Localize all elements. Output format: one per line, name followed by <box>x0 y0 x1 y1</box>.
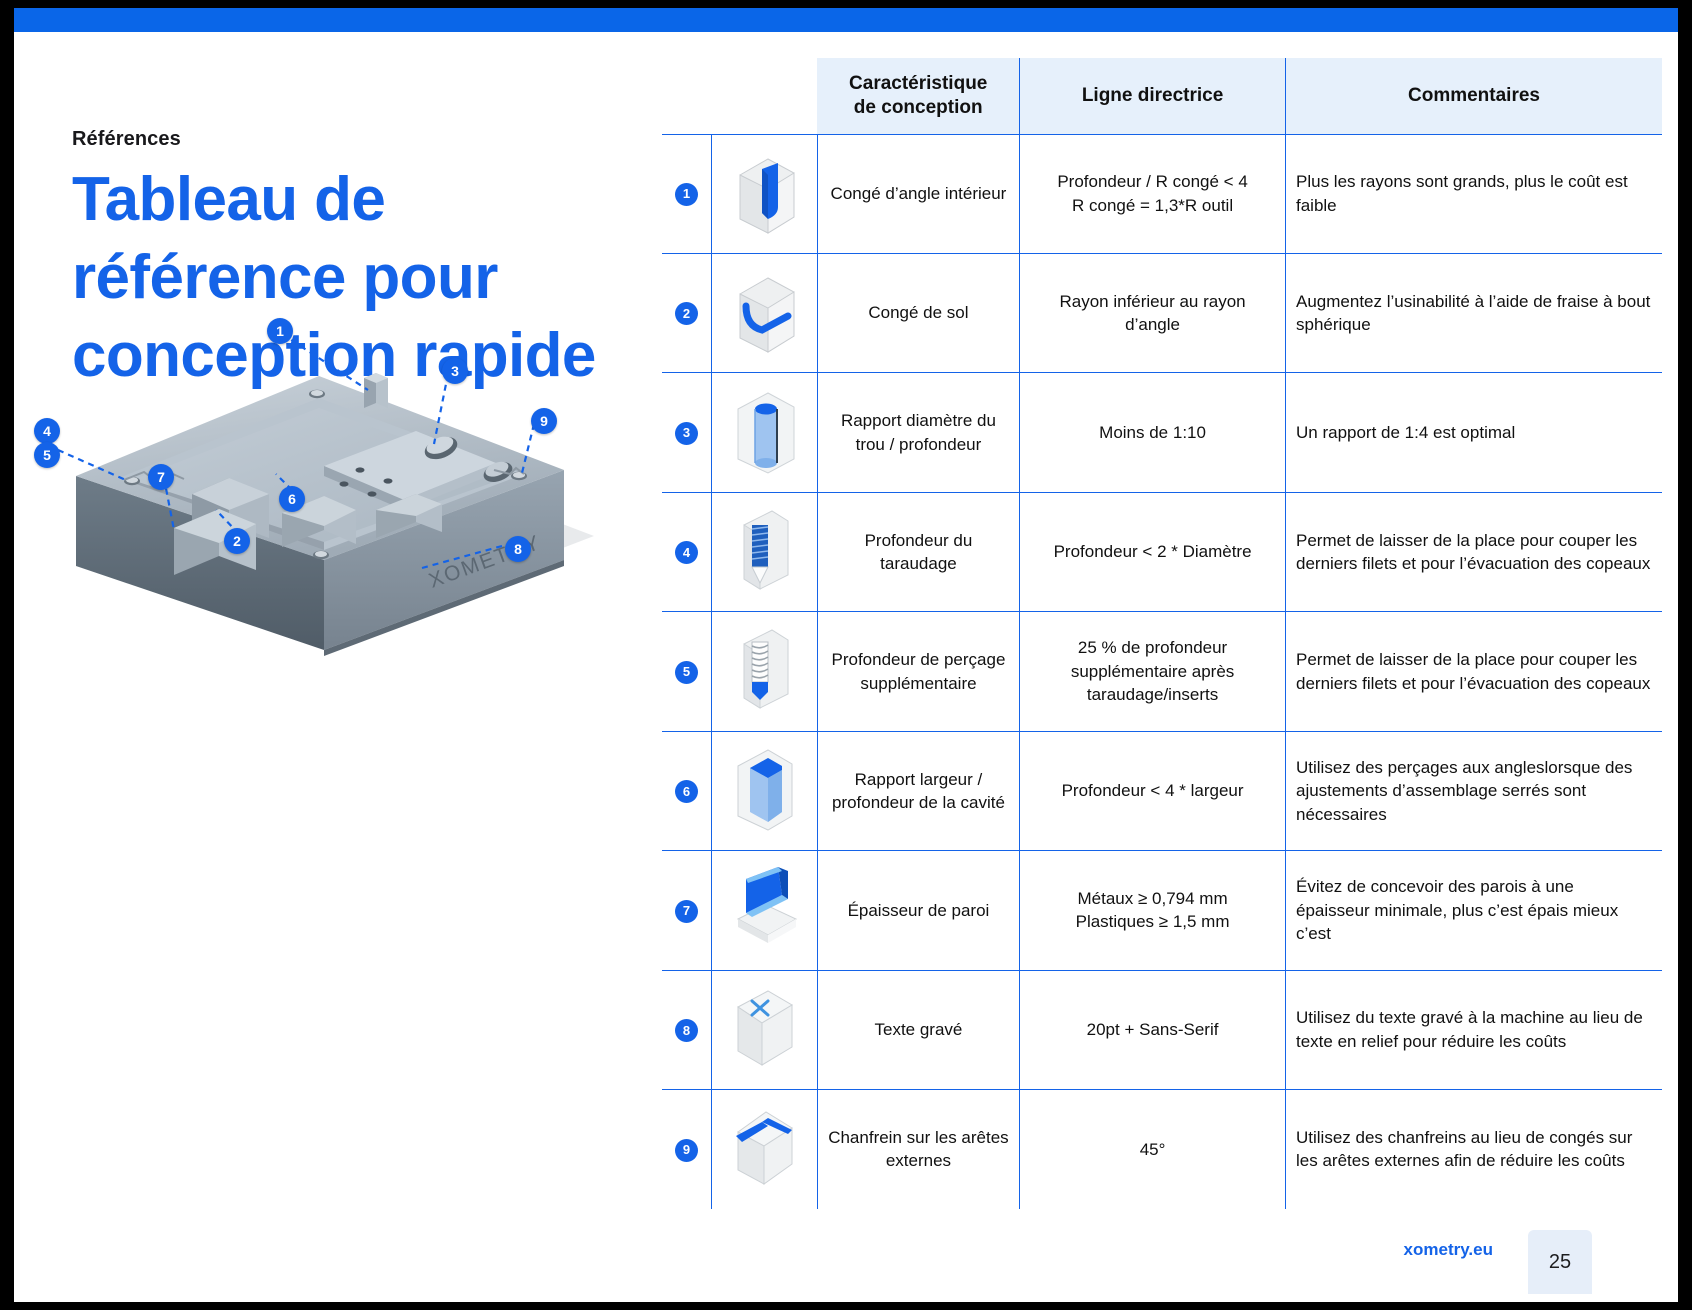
row-icon-cell <box>711 1090 817 1209</box>
extra-drill-depth-icon <box>722 622 806 714</box>
reference-table-wrapper: Caractéristique de conception Ligne dire… <box>662 58 1662 1209</box>
guideline-line1: Métaux ≥ 0,794 mm <box>1078 889 1228 908</box>
wall-thickness-icon <box>722 861 806 953</box>
header-guideline: Ligne directrice <box>1020 58 1286 134</box>
page-number-badge: 25 <box>1528 1230 1592 1294</box>
row-feature: Texte gravé <box>817 970 1019 1089</box>
engraved-text-icon <box>722 981 806 1073</box>
row-guideline: Métaux ≥ 0,794 mm Plastiques ≥ 1,5 mm <box>1020 851 1286 970</box>
row-comments: Évitez de concevoir des parois à une épa… <box>1286 851 1663 970</box>
row-badge: 7 <box>675 900 698 923</box>
row-guideline: Moins de 1:10 <box>1020 373 1286 492</box>
callout-6[interactable]: 6 <box>279 486 305 512</box>
row-guideline: Profondeur < 2 * Diamètre <box>1020 492 1286 611</box>
header-blank-icon <box>711 58 817 134</box>
row-comments: Utilisez des perçages aux angleslorsque … <box>1286 731 1663 850</box>
row-guideline: 25 % de profondeur supplémentaire après … <box>1020 612 1286 731</box>
callout-9[interactable]: 9 <box>531 408 557 434</box>
row-guideline: Profondeur / R congé < 4 R congé = 1,3*R… <box>1020 134 1286 253</box>
cavity-width-depth-icon <box>722 742 806 834</box>
header-feature-line2: de conception <box>854 97 983 118</box>
row-number-cell: 8 <box>662 970 711 1089</box>
table-row: 5 <box>662 612 1662 731</box>
row-feature: Profondeur de perçage supplémentaire <box>817 612 1019 731</box>
row-badge: 3 <box>675 422 698 445</box>
callout-3[interactable]: 3 <box>442 358 468 384</box>
table-row: 8 <box>662 970 1662 1089</box>
row-number-cell: 3 <box>662 373 711 492</box>
table-row: 2 Congé de sol Rayon in <box>662 253 1662 372</box>
row-number-cell: 1 <box>662 134 711 253</box>
row-feature: Rapport diamètre du trou / profondeur <box>817 373 1019 492</box>
cad-illustration: XOMETRY 1 2 3 4 5 6 7 8 9 <box>24 298 614 658</box>
header-blank-num <box>662 58 711 134</box>
row-number-cell: 5 <box>662 612 711 731</box>
row-icon-cell <box>711 731 817 850</box>
thread-depth-icon <box>722 503 806 595</box>
slide-page: Références Tableau de référence pour con… <box>14 8 1678 1302</box>
row-feature: Congé d’angle intérieur <box>817 134 1019 253</box>
cad-part-svg: XOMETRY <box>24 298 614 658</box>
row-number-cell: 7 <box>662 851 711 970</box>
callout-1[interactable]: 1 <box>267 318 293 344</box>
row-comments: Un rapport de 1:4 est optimal <box>1286 373 1663 492</box>
row-comments: Augmentez l’usinabilité à l’aide de frai… <box>1286 253 1663 372</box>
callout-2[interactable]: 2 <box>224 528 250 554</box>
bottom-spacer <box>14 1294 1678 1302</box>
row-number-cell: 2 <box>662 253 711 372</box>
callout-4[interactable]: 4 <box>34 418 60 444</box>
row-icon-cell <box>711 253 817 372</box>
row-feature: Chanfrein sur les arêtes externes <box>817 1090 1019 1209</box>
row-icon-cell <box>711 970 817 1089</box>
row-number-cell: 9 <box>662 1090 711 1209</box>
footer-website-link[interactable]: xometry.eu <box>1404 1240 1493 1260</box>
row-icon-cell <box>711 373 817 492</box>
row-number-cell: 4 <box>662 492 711 611</box>
row-comments: Utilisez des chanfreins au lieu de congé… <box>1286 1090 1663 1209</box>
row-icon-cell <box>711 612 817 731</box>
guideline-line2: Plastiques ≥ 1,5 mm <box>1076 912 1230 931</box>
header-comments: Commentaires <box>1286 58 1663 134</box>
row-badge: 1 <box>675 183 698 206</box>
guideline-line1: Profondeur / R congé < 4 <box>1057 172 1247 191</box>
table-header: Caractéristique de conception Ligne dire… <box>662 58 1662 134</box>
row-badge: 5 <box>675 661 698 684</box>
table-row: 1 Congé d’angle <box>662 134 1662 253</box>
chamfer-outer-edge-icon <box>722 1100 806 1192</box>
row-feature: Congé de sol <box>817 253 1019 372</box>
table-body: 1 Congé d’angle <box>662 134 1662 1209</box>
row-badge: 2 <box>675 302 698 325</box>
row-icon-cell <box>711 851 817 970</box>
table-row: 4 <box>662 492 1662 611</box>
row-comments: Permet de laisser de la place pour coupe… <box>1286 612 1663 731</box>
row-guideline: Rayon inférieur au rayon d’angle <box>1020 253 1286 372</box>
row-feature: Profondeur du taraudage <box>817 492 1019 611</box>
hole-diameter-depth-icon <box>722 383 806 475</box>
row-comments: Utilisez du texte gravé à la machine au … <box>1286 970 1663 1089</box>
callout-7[interactable]: 7 <box>148 464 174 490</box>
row-icon-cell <box>711 492 817 611</box>
row-guideline: Profondeur < 4 * largeur <box>1020 731 1286 850</box>
top-accent-bar <box>14 8 1678 32</box>
row-badge: 6 <box>675 780 698 803</box>
callout-8[interactable]: 8 <box>505 536 531 562</box>
row-guideline: 20pt + Sans-Serif <box>1020 970 1286 1089</box>
row-guideline: 45° <box>1020 1090 1286 1209</box>
inner-corner-fillet-icon <box>722 145 806 237</box>
table-row: 7 <box>662 851 1662 970</box>
row-badge: 4 <box>675 541 698 564</box>
row-icon-cell <box>711 134 817 253</box>
guideline-line2: R congé = 1,3*R outil <box>1072 196 1233 215</box>
callout-5[interactable]: 5 <box>34 442 60 468</box>
row-comments: Permet de laisser de la place pour coupe… <box>1286 492 1663 611</box>
row-badge: 8 <box>675 1019 698 1042</box>
reference-table: Caractéristique de conception Ligne dire… <box>662 58 1662 1209</box>
header-feature: Caractéristique de conception <box>817 58 1019 134</box>
row-feature: Rapport largeur / profondeur de la cavit… <box>817 731 1019 850</box>
table-row: 3 <box>662 373 1662 492</box>
table-row: 9 Chanfrein sur <box>662 1090 1662 1209</box>
floor-fillet-icon <box>722 264 806 356</box>
row-comments: Plus les rayons sont grands, plus le coû… <box>1286 134 1663 253</box>
row-feature: Épaisseur de paroi <box>817 851 1019 970</box>
table-row: 6 Rapport largeur / profondeur de <box>662 731 1662 850</box>
row-badge: 9 <box>675 1139 698 1162</box>
header-feature-line1: Caractéristique <box>849 73 987 94</box>
row-number-cell: 6 <box>662 731 711 850</box>
page-eyebrow: Références <box>72 128 672 151</box>
